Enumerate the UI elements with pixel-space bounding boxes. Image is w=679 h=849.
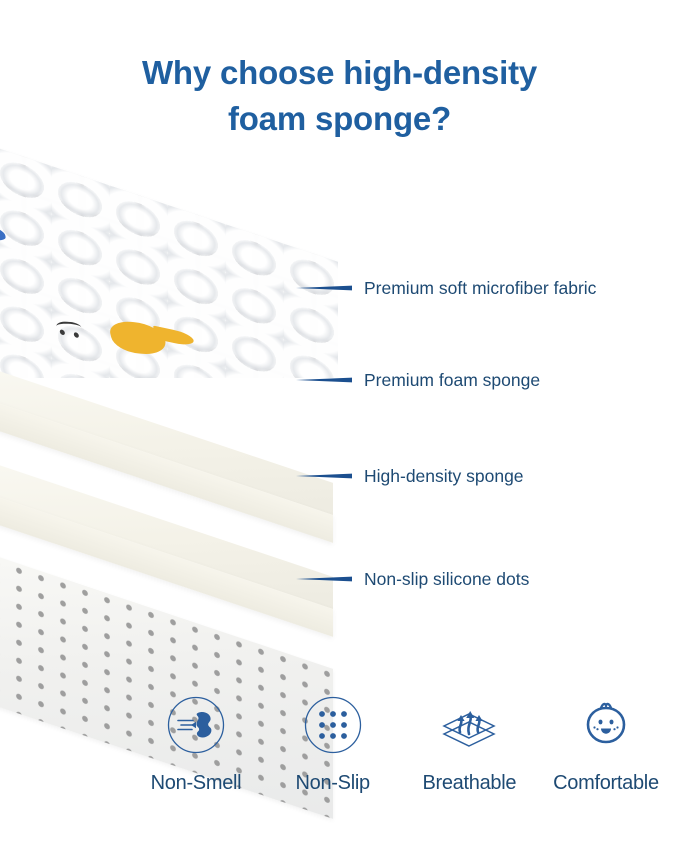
layer-high-density-sponge bbox=[0, 438, 333, 504]
feature-breathable: Breathable bbox=[401, 694, 537, 795]
callout-microfiber-fabric: Premium soft microfiber fabric bbox=[296, 278, 596, 298]
product-infographic-page: { "title": { "line1": "Why choose high-d… bbox=[0, 0, 679, 849]
callout-label-high-density-sponge: High-density sponge bbox=[364, 466, 524, 486]
page-title-line-2: foam sponge? bbox=[0, 96, 679, 142]
leader-line-icon bbox=[296, 576, 352, 582]
callout-label-silicone-dots: Non-slip silicone dots bbox=[364, 569, 529, 589]
dot-grid-circle-icon bbox=[302, 694, 364, 756]
airflow-layers-icon bbox=[438, 694, 500, 756]
feature-comfortable: Comfortable bbox=[538, 694, 674, 795]
leader-line-icon bbox=[296, 473, 352, 479]
feature-label-breathable: Breathable bbox=[422, 771, 516, 795]
feature-non-smell: Non-Smell bbox=[128, 694, 264, 795]
feature-label-comfortable: Comfortable bbox=[553, 771, 659, 795]
feature-label-non-smell: Non-Smell bbox=[151, 771, 242, 795]
page-title: Why choose high-density foam sponge? bbox=[0, 50, 679, 142]
wind-odor-circle-icon bbox=[165, 694, 227, 756]
page-title-line-1: Why choose high-density bbox=[0, 50, 679, 96]
layer-silicone-dot-backing bbox=[0, 530, 333, 680]
callout-label-premium-foam-sponge: Premium foam sponge bbox=[364, 370, 540, 390]
baby-face-icon bbox=[575, 694, 637, 756]
product-exploded-diagram bbox=[0, 148, 338, 668]
layer-premium-foam-sponge bbox=[0, 344, 333, 410]
callout-label-microfiber-fabric: Premium soft microfiber fabric bbox=[364, 278, 596, 298]
callout-high-density-sponge: High-density sponge bbox=[296, 466, 524, 486]
callout-premium-foam-sponge: Premium foam sponge bbox=[296, 370, 540, 390]
leader-line-icon bbox=[296, 285, 352, 291]
feature-label-non-slip: Non-Slip bbox=[296, 771, 370, 795]
leader-line-icon bbox=[296, 377, 352, 383]
feature-non-slip: Non-Slip bbox=[265, 694, 401, 795]
callout-silicone-dots: Non-slip silicone dots bbox=[296, 569, 529, 589]
feature-badge-row: Non-Smell Non-Slip bbox=[128, 694, 674, 804]
